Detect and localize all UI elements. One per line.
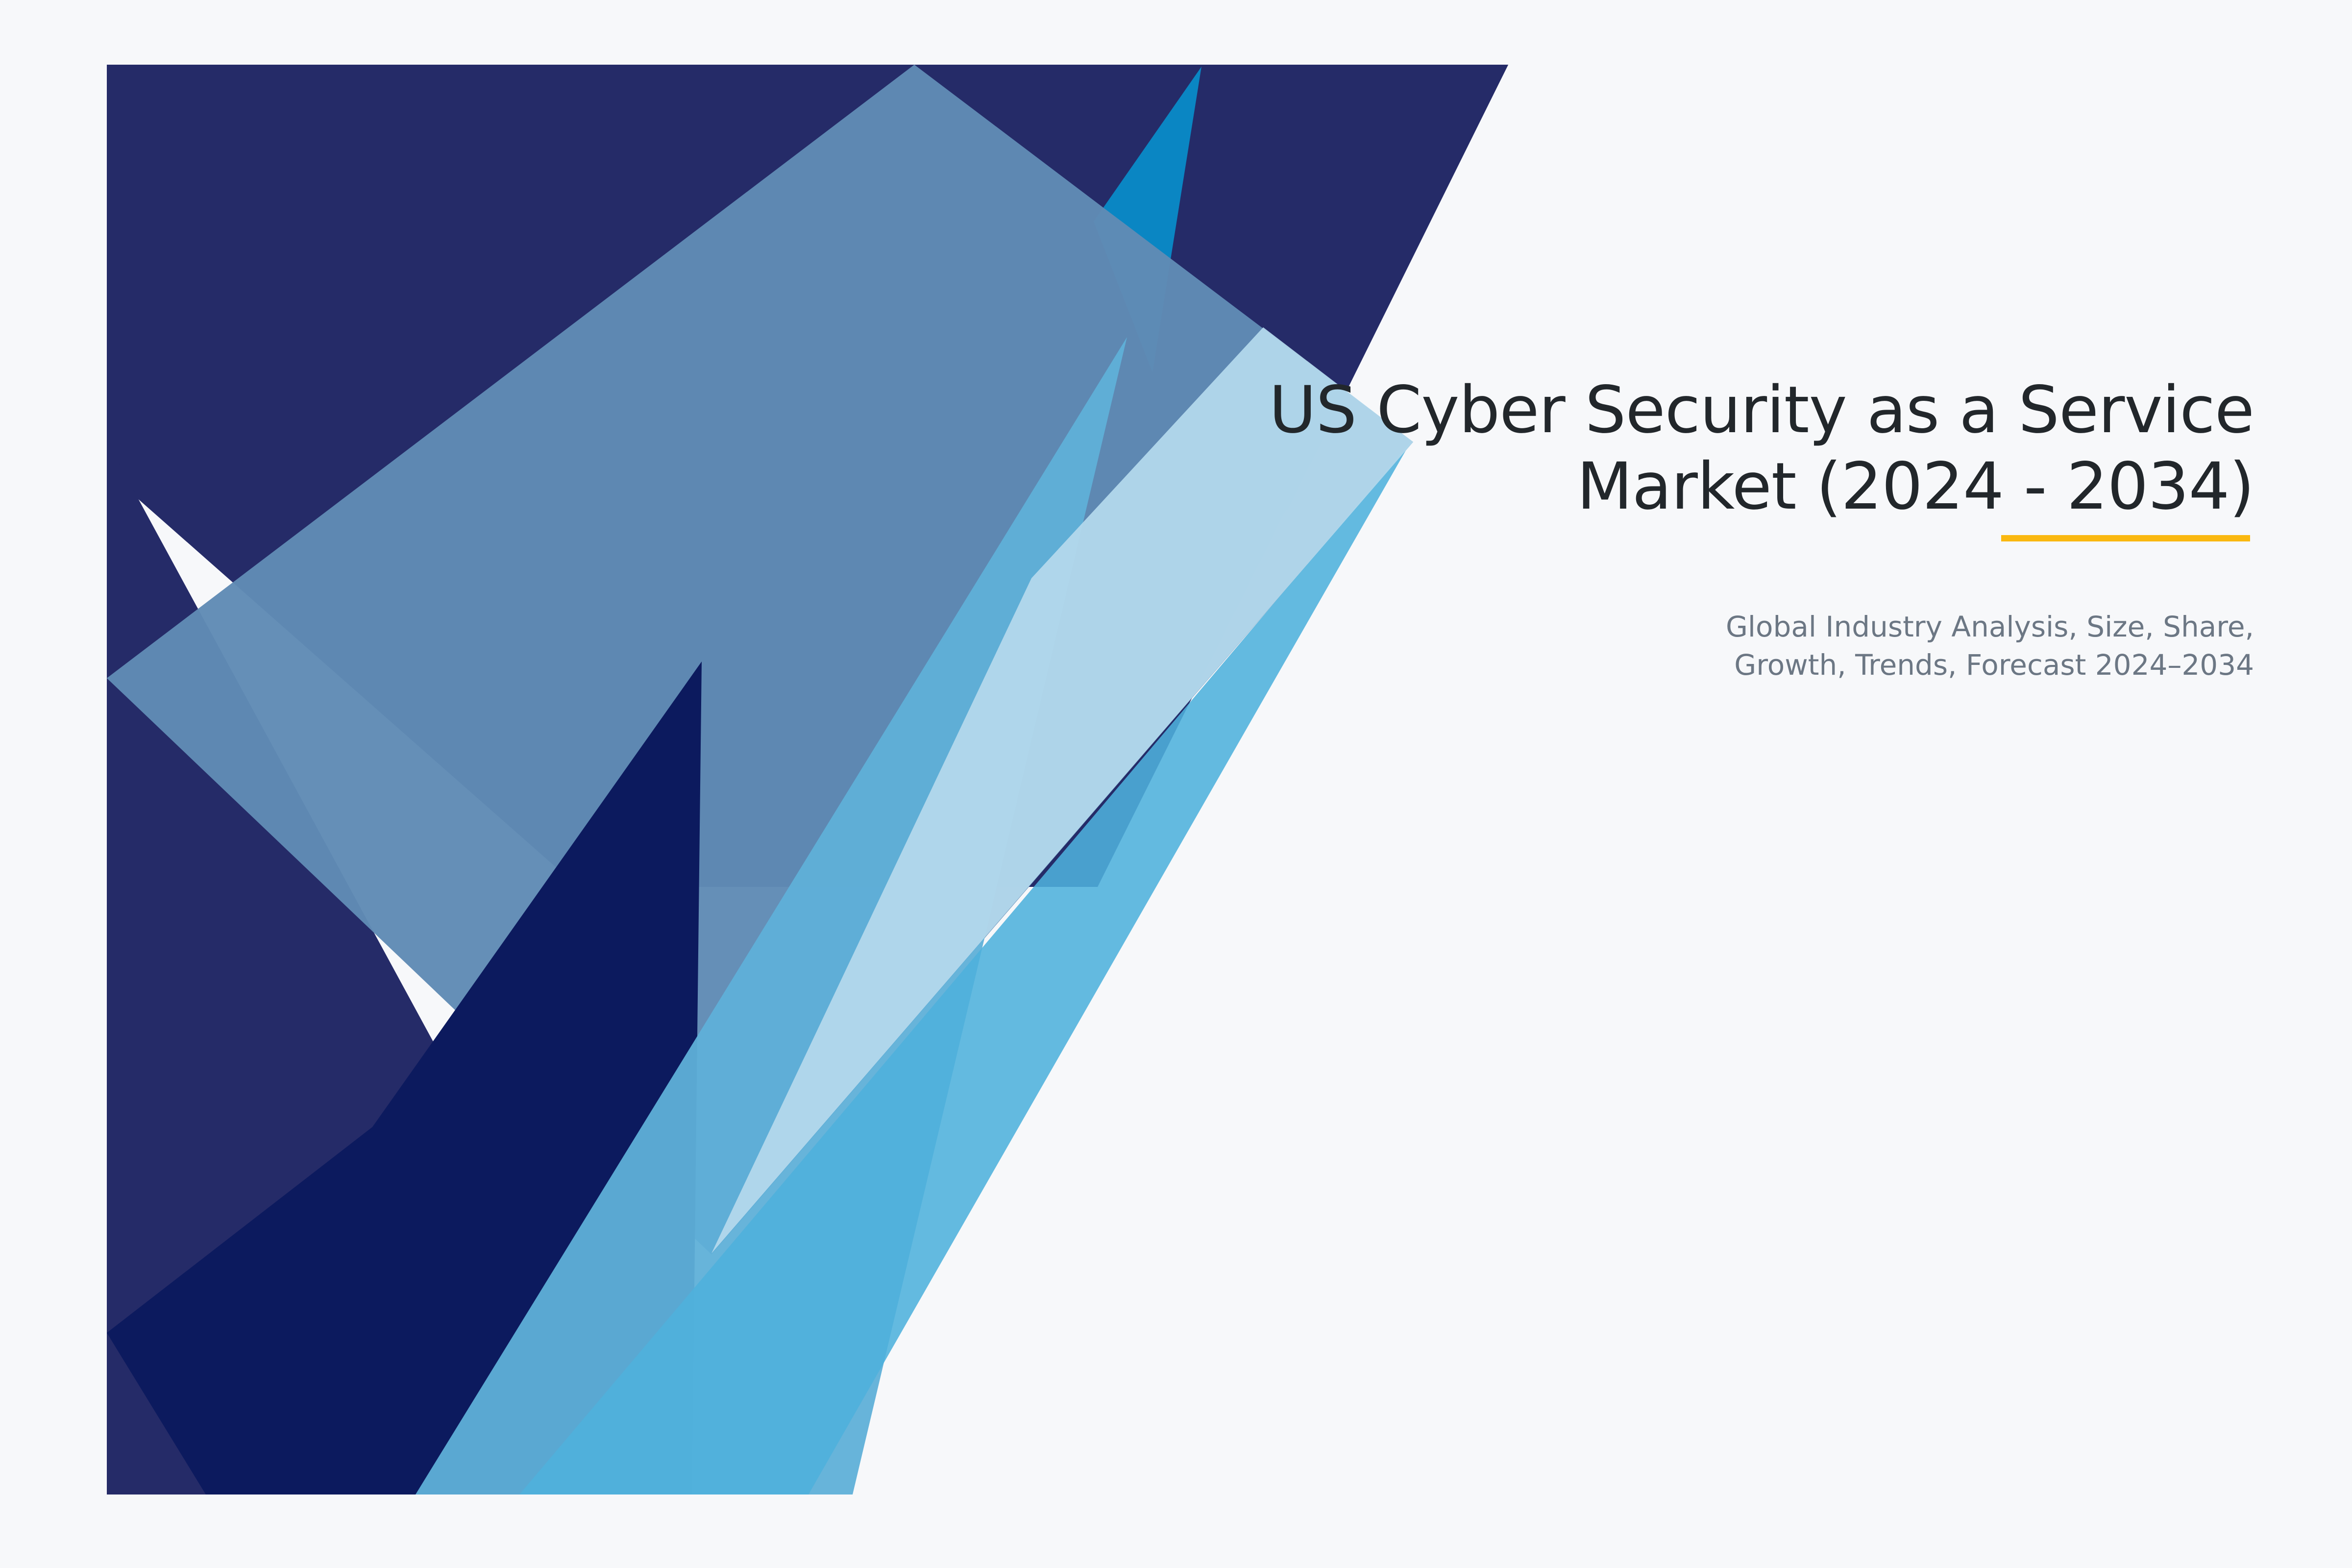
- cover-page: US Cyber Security as a Service Market (2…: [0, 0, 2352, 1568]
- page-title: US Cyber Security as a Service Market (2…: [1053, 372, 2254, 525]
- page-subtitle: Global Industry Analysis, Size, Share, G…: [1053, 525, 2254, 685]
- title-accent-underline: [2001, 535, 2250, 541]
- title-wrapper: US Cyber Security as a Service Market (2…: [1053, 372, 2254, 525]
- title-text-block: US Cyber Security as a Service Market (2…: [1053, 372, 2254, 685]
- abstract-geometric-cover-art: [0, 0, 2352, 1568]
